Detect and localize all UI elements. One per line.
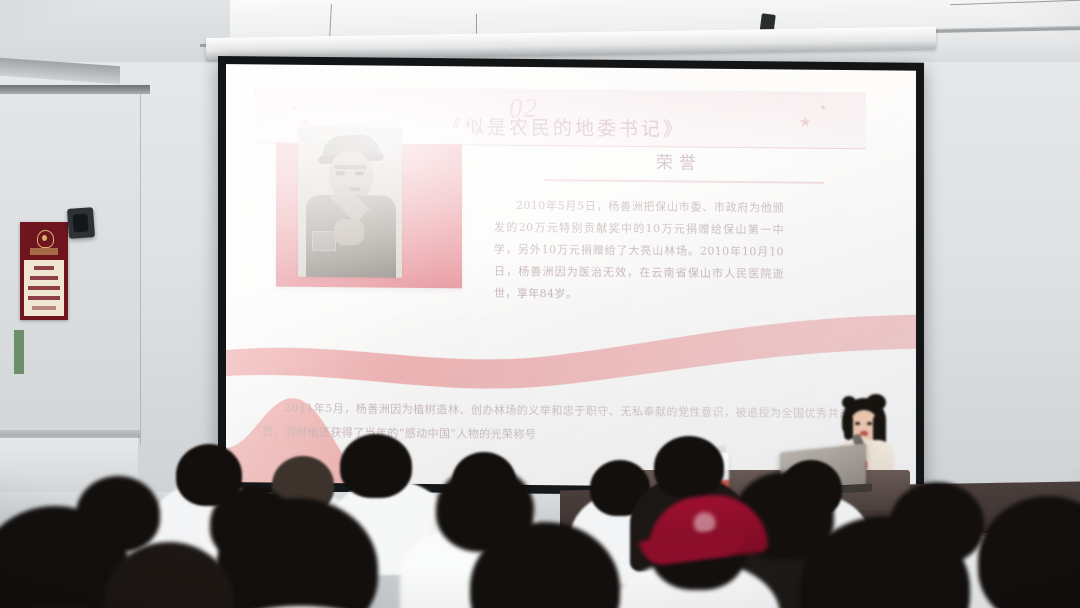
slide-body-paragraph: 2010年5月5日，杨善洲把保山市委、市政府为他颁发的20万元特别贡献奖中的10… (494, 195, 784, 308)
audience-area (0, 430, 1080, 608)
wall-ledge-upper (0, 85, 150, 94)
audience-member-head (654, 436, 724, 498)
presentation-slide: ★ ★ ★ ★ 02 《似是农民的地委书记》 荣誉 (226, 64, 916, 489)
wall-speaker (67, 207, 95, 239)
wall-notice-strip (14, 330, 24, 374)
portrait-hands (334, 219, 364, 245)
portrait-eye-left (336, 171, 345, 175)
heading-underline (544, 179, 825, 184)
portrait-pocket (312, 231, 336, 251)
presenter-eye-right (867, 422, 872, 425)
portrait-eye-right (355, 171, 364, 175)
wall-poster (20, 222, 68, 320)
poster-logo-dot-icon (42, 235, 47, 241)
screenshot-root: ★ ★ ★ ★ 02 《似是农民的地委书记》 荣誉 (0, 0, 1080, 608)
poster-body (24, 260, 64, 316)
speaker-cone-icon (72, 214, 88, 233)
ceiling-panel-left (0, 0, 230, 62)
star-icon-right-small: ★ (820, 104, 826, 112)
projection-screen: ★ ★ ★ ★ 02 《似是农民的地委书记》 荣誉 (226, 64, 916, 489)
audience-member-head (340, 434, 412, 498)
portrait-brow (334, 165, 367, 169)
presenter-eye-left (855, 422, 860, 425)
slide-heading-honors: 荣誉 (564, 147, 794, 174)
audience-member-head-front (978, 496, 1080, 608)
poster-subtitle-bar (30, 248, 58, 255)
star-icon-left-small: ★ (291, 105, 297, 113)
portrait-photo (298, 127, 402, 278)
